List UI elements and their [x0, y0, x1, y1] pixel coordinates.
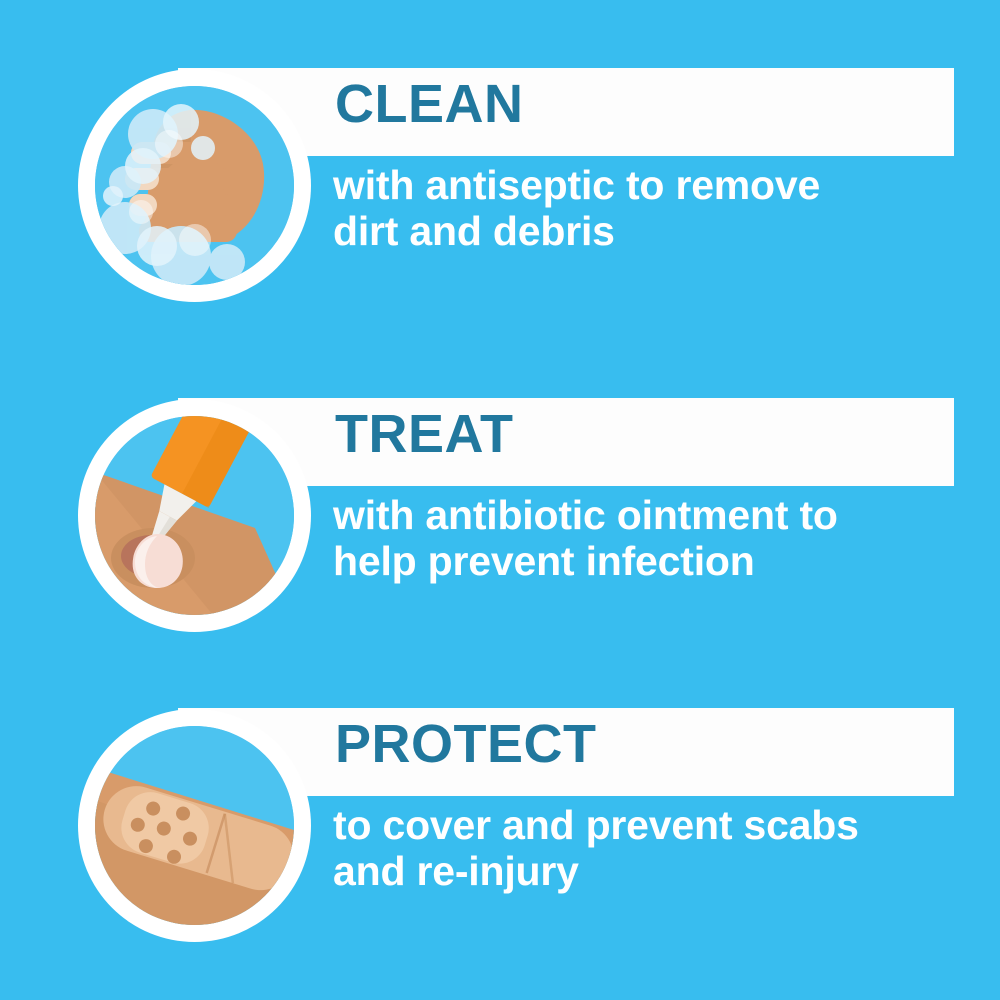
icon-badge-clean [78, 69, 311, 302]
step-description-treat: with antibiotic ointment to help prevent… [333, 493, 973, 585]
step-description-clean: with antiseptic to remove dirt and debri… [333, 163, 973, 255]
description-line: dirt and debris [333, 209, 973, 255]
description-line: help prevent infection [333, 539, 973, 585]
description-line: with antiseptic to remove [333, 163, 973, 209]
description-line: with antibiotic ointment to [333, 493, 973, 539]
description-line: to cover and prevent scabs [333, 803, 973, 849]
step-protect: PROTECT to cover and prevent scabs and r… [0, 695, 1000, 960]
step-treat: TREAT with antibiotic ointment to help p… [0, 385, 1000, 650]
ointment-tube-icon [95, 416, 294, 615]
step-heading-clean: CLEAN [335, 77, 524, 131]
description-line: and re-injury [333, 849, 973, 895]
step-heading-treat: TREAT [335, 407, 513, 461]
wound-care-infographic: CLEAN with antiseptic to remove dirt and… [0, 0, 1000, 1000]
adhesive-bandage-icon [95, 726, 294, 925]
icon-badge-treat [78, 399, 311, 632]
step-clean: CLEAN with antiseptic to remove dirt and… [0, 55, 1000, 320]
icon-badge-protect [78, 709, 311, 942]
washing-hands-icon [95, 86, 294, 285]
step-heading-protect: PROTECT [335, 717, 597, 771]
step-description-protect: to cover and prevent scabs and re-injury [333, 803, 973, 895]
